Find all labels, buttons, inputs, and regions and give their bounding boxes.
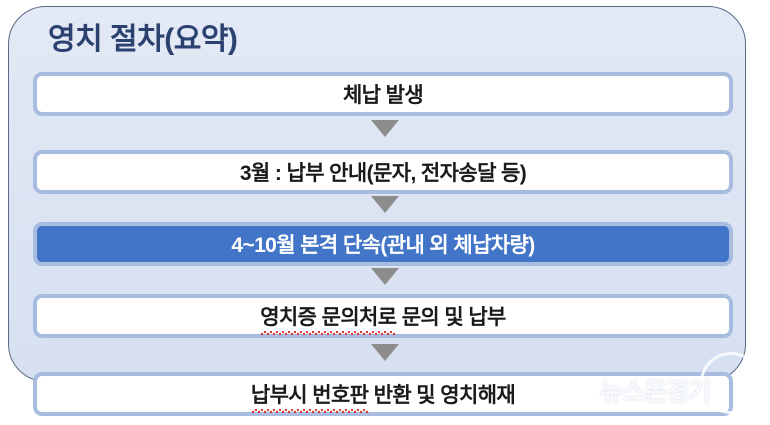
flow-step-label: 4~10월 본격 단속(관내 외 체납차량) (231, 229, 534, 259)
flow-step-label: 영치증 문의처로 문의 및 납부 (260, 301, 506, 331)
flow-arrow-down-icon (371, 344, 399, 361)
spellcheck-underline (251, 409, 369, 413)
flow-step-label: 체납 발생 (343, 79, 423, 109)
flow-step-box: 체납 발생 (33, 72, 733, 116)
flow-step-label: 납부시 번호판 반환 및 영치해재 (251, 379, 515, 409)
spellcheck-underline (260, 331, 396, 335)
flow-step-box: 3월 : 납부 안내(문자, 전자송달 등) (33, 150, 733, 194)
flow-step-box: 납부시 번호판 반환 및 영치해재 (33, 372, 733, 416)
flow-step-label: 3월 : 납부 안내(문자, 전자송달 등) (240, 157, 526, 187)
flow-step-box: 영치증 문의처로 문의 및 납부 (33, 294, 733, 338)
flow-arrow-down-icon (371, 120, 399, 137)
flow-step-list: 체납 발생3월 : 납부 안내(문자, 전자송달 등)4~10월 본격 단속(관… (0, 0, 770, 425)
flow-arrow-down-icon (371, 268, 399, 285)
flow-step-box: 4~10월 본격 단속(관내 외 체납차량) (33, 222, 733, 266)
flow-arrow-down-icon (371, 196, 399, 213)
